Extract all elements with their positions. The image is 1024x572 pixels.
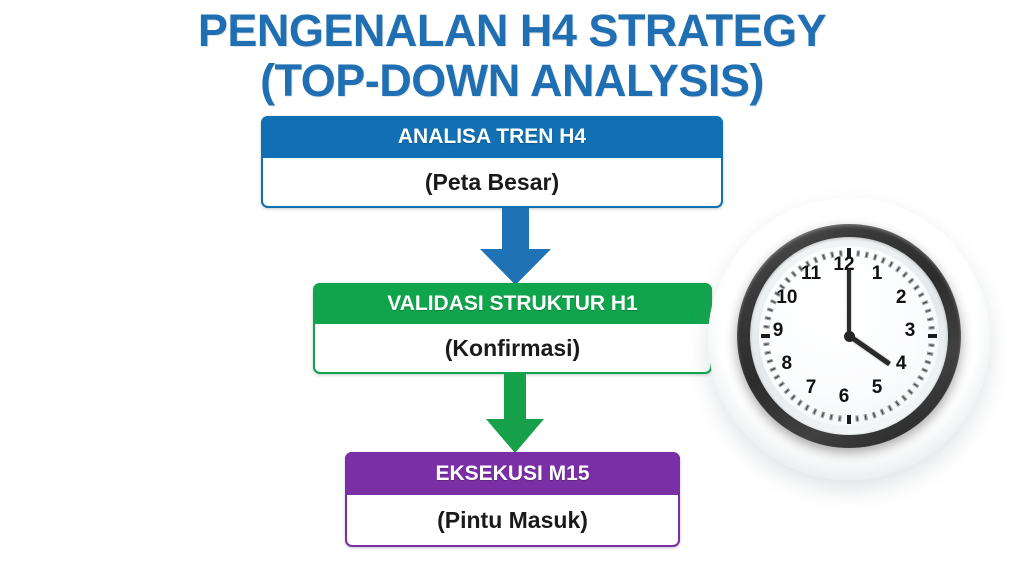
clock-numeral-6: 6 — [831, 387, 857, 407]
clock-numeral-3: 3 — [897, 321, 923, 341]
clock-inner-ring: 123456789101112 — [750, 237, 948, 435]
flow-step-eksekusi-m15[interactable]: EKSEKUSI M15 (Pintu Masuk) — [345, 452, 680, 547]
page-title-line-1: PENGENALAN H4 STRATEGY — [0, 8, 1024, 54]
page-title: PENGENALAN H4 STRATEGY (TOP-DOWN ANALYSI… — [0, 8, 1024, 104]
flow-step-validasi-struktur-h1[interactable]: VALIDASI STRUKTUR H1 (Konfirmasi) — [313, 283, 712, 374]
clock-numeral-4: 4 — [888, 354, 914, 374]
clock-numeral-11: 11 — [798, 264, 824, 284]
clock-numeral-12: 12 — [831, 255, 857, 275]
flow-step-body: (Pintu Masuk) — [345, 495, 680, 547]
flow-step-analisa-tren-h4[interactable]: ANALISA TREN H4 (Peta Besar) — [261, 116, 723, 208]
clock-numeral-8: 8 — [774, 354, 800, 374]
flow-step-body: (Konfirmasi) — [313, 324, 712, 374]
clock-numeral-5: 5 — [864, 378, 890, 398]
flow-step-header: VALIDASI STRUKTUR H1 — [313, 283, 712, 324]
wall-clock-icon: 123456789101112 — [708, 198, 990, 480]
page-title-line-2: (TOP-DOWN ANALYSIS) — [0, 58, 1024, 104]
clock-face: 123456789101112 — [759, 246, 939, 426]
slide-canvas: PENGENALAN H4 STRATEGY (TOP-DOWN ANALYSI… — [0, 0, 1024, 572]
clock-bezel: 123456789101112 — [737, 224, 961, 448]
arrow-h4-to-h1-icon — [478, 208, 553, 286]
clock-minute-hand — [847, 269, 851, 336]
clock-numeral-2: 2 — [888, 288, 914, 308]
clock-numeral-10: 10 — [774, 288, 800, 308]
clock-numeral-7: 7 — [798, 378, 824, 398]
flow-step-header: EKSEKUSI M15 — [345, 452, 680, 495]
clock-numeral-1: 1 — [864, 264, 890, 284]
arrow-h1-to-m15-icon — [484, 374, 546, 454]
flow-step-body: (Peta Besar) — [261, 158, 723, 208]
clock-numeral-9: 9 — [765, 321, 791, 341]
flow-step-header: ANALISA TREN H4 — [261, 116, 723, 158]
clock-center-cap — [844, 331, 855, 342]
